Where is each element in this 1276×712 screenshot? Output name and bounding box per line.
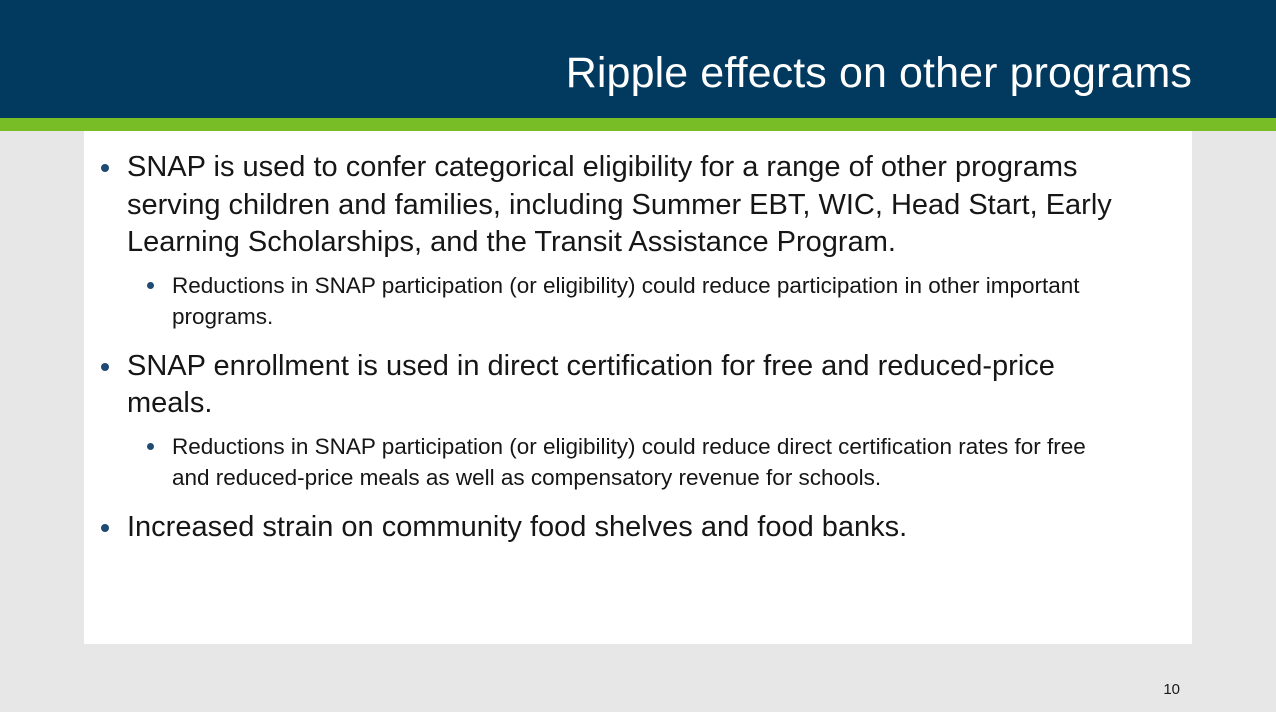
slide-header-band: Ripple effects on other programs [0,0,1276,118]
bullet-dot-icon [101,524,109,532]
list-item: Reductions in SNAP participation (or eli… [84,270,1170,332]
sub-bullet-list: Reductions in SNAP participation (or eli… [84,431,1170,493]
list-item-text: Increased strain on community food shelv… [127,511,907,543]
list-item: SNAP enrollment is used in direct certif… [84,348,1170,423]
page-title: Ripple effects on other programs [300,48,1192,98]
list-item-text: SNAP is used to confer categorical eligi… [127,151,1112,258]
bullet-dot-icon [101,164,109,172]
bullet-dot-icon [147,282,154,289]
list-item: Reductions in SNAP participation (or eli… [84,431,1170,493]
sub-bullet-list: Reductions in SNAP participation (or eli… [84,270,1170,332]
list-item-text: Reductions in SNAP participation (or eli… [172,434,1086,490]
accent-divider [0,118,1276,131]
bullet-list: SNAP is used to confer categorical eligi… [84,149,1170,546]
list-item: SNAP is used to confer categorical eligi… [84,149,1170,262]
bullet-dot-icon [101,363,109,371]
content-panel: SNAP is used to confer categorical eligi… [84,131,1192,644]
bullet-dot-icon [147,443,154,450]
list-item-text: Reductions in SNAP participation (or eli… [172,273,1080,329]
list-item-text: SNAP enrollment is used in direct certif… [127,350,1055,420]
page-number: 10 [1163,681,1180,699]
list-item: Increased strain on community food shelv… [84,509,1170,547]
